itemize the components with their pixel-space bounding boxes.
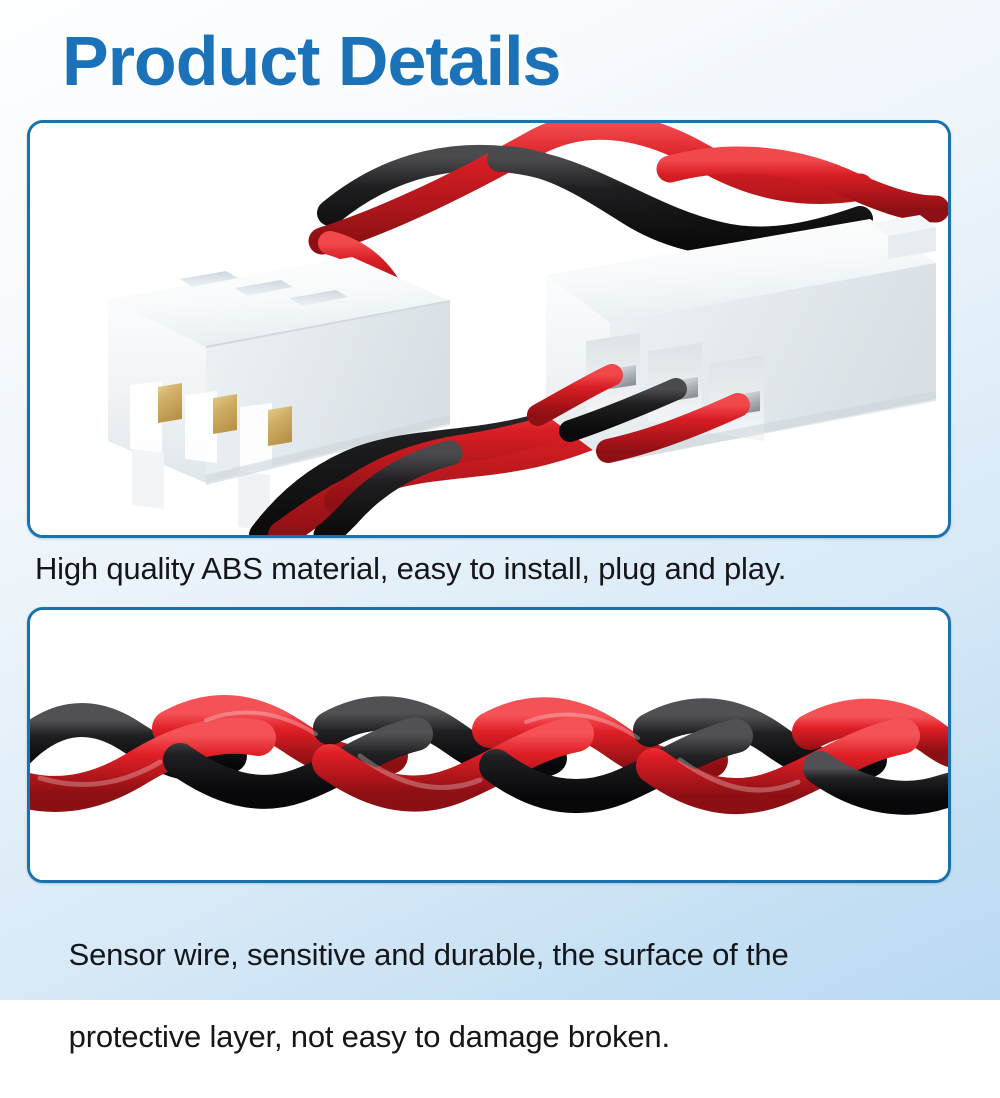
gold-contact-3: [268, 406, 292, 446]
product-image-panel-connectors: [27, 120, 951, 538]
page-title: Product Details: [62, 18, 560, 104]
title-row: Product Details: [0, 18, 1000, 104]
connector-photo: [30, 123, 948, 535]
product-details-page: Product Details: [0, 0, 1000, 1000]
panel-2-caption-line-1: Sensor wire, sensitive and durable, the …: [69, 937, 789, 972]
panel-2-caption-line-2: protective layer, not easy to damage bro…: [69, 1019, 670, 1054]
gold-contact-2: [213, 394, 237, 434]
panel-2-caption: Sensor wire, sensitive and durable, the …: [35, 893, 789, 1098]
panel-1-caption: High quality ABS material, easy to insta…: [35, 548, 786, 589]
gold-contact-1: [158, 383, 182, 423]
product-image-panel-wire: [27, 607, 951, 883]
twisted-wire-photo: [30, 610, 948, 880]
